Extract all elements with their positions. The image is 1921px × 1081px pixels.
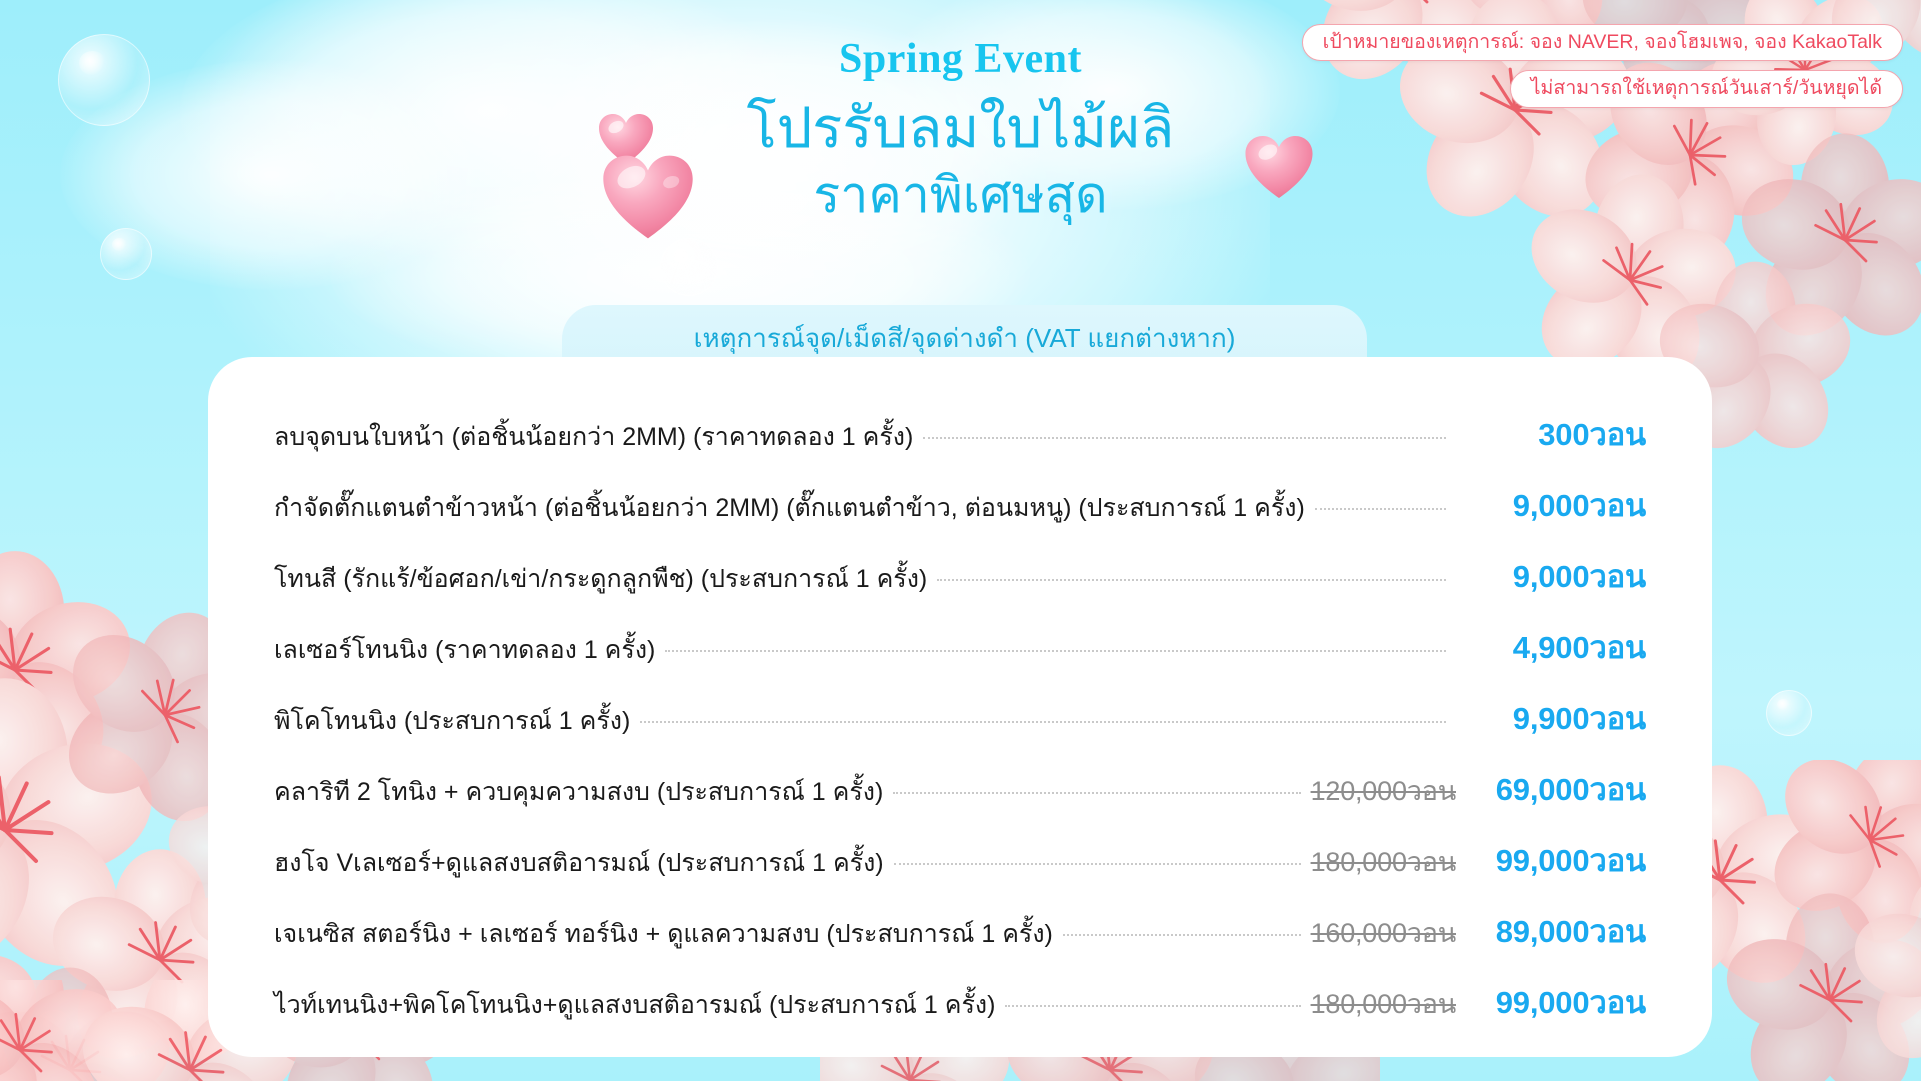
price-original: 180,000วอน [1311, 982, 1456, 1025]
price-row: โทนสี (รักแร้/ข้อศอก/เข่า/กระดูกลูกพืช) … [274, 551, 1646, 622]
price-row: เลเซอร์โทนนิง (ราคาทดลอง 1 ครั้ง)4,900วอ… [274, 622, 1646, 693]
leader-dots [1005, 1005, 1300, 1007]
headline-line-2: ราคาพิเศษสุด [0, 163, 1921, 228]
price-row: ลบจุดบนใบหน้า (ต่อชิ้นน้อยกว่า 2MM) (ราค… [274, 409, 1646, 480]
soap-bubble [660, 238, 718, 296]
badge-event-channels[interactable]: เป้าหมายของเหตุการณ์: จอง NAVER, จองโฮมเ… [1302, 24, 1903, 61]
price-discounted: 89,000วอน [1478, 906, 1646, 956]
price-row-label: พิโคโทนนิง (ประสบการณ์ 1 ครั้ง) [274, 706, 630, 736]
leader-dots [894, 863, 1301, 865]
badge-group: เป้าหมายของเหตุการณ์: จอง NAVER, จองโฮมเ… [1302, 24, 1903, 108]
price-discounted: 9,900วอน [1478, 693, 1646, 743]
price-row: ฮงโจ Vเลเซอร์+ดูแลสงบสติอารมณ์ (ประสบการ… [274, 835, 1646, 906]
price-original: 160,000วอน [1311, 911, 1456, 954]
soap-bubble [34, 1010, 74, 1050]
price-row-label: คลาริที 2 โทนิง + ควบคุมความสงบ (ประสบกา… [274, 777, 883, 807]
price-row-label: ลบจุดบนใบหน้า (ต่อชิ้นน้อยกว่า 2MM) (ราค… [274, 422, 913, 452]
price-original: 120,000วอน [1311, 769, 1456, 812]
price-row-label: ไวท์เทนนิง+พิคโคโทนนิง+ดูแลสงบสติอารมณ์ … [274, 990, 995, 1020]
price-row-label: โทนสี (รักแร้/ข้อศอก/เข่า/กระดูกลูกพืช) … [274, 564, 927, 594]
leader-dots [1315, 508, 1446, 510]
price-row: ไวท์เทนนิง+พิคโคโทนนิง+ดูแลสงบสติอารมณ์ … [274, 977, 1646, 1048]
price-row: คลาริที 2 โทนิง + ควบคุมความสงบ (ประสบกา… [274, 764, 1646, 835]
price-card: ลบจุดบนใบหน้า (ต่อชิ้นน้อยกว่า 2MM) (ราค… [208, 357, 1712, 1057]
soap-bubble [1766, 690, 1812, 736]
leader-dots [1063, 934, 1301, 936]
price-row-label: เจเนซิส สตอร์นิง + เลเซอร์ ทอร์นิง + ดูแ… [274, 919, 1053, 949]
price-discounted: 9,000วอน [1478, 480, 1646, 530]
badge-weekend-exclusion[interactable]: ไม่สามารถใช้เหตุการณ์วันเสาร์/วันหยุดได้ [1510, 70, 1903, 107]
price-row-label: กำจัดตั๊กแตนตำข้าวหน้า (ต่อชิ้นน้อยกว่า … [274, 493, 1305, 523]
banner-stage: เป้าหมายของเหตุการณ์: จอง NAVER, จองโฮมเ… [0, 0, 1921, 1081]
leader-dots [923, 437, 1446, 439]
price-row: พิโคโทนนิง (ประสบการณ์ 1 ครั้ง)9,900วอน [274, 693, 1646, 764]
leader-dots [665, 650, 1446, 652]
price-discounted: 69,000วอน [1478, 764, 1646, 814]
price-list: ลบจุดบนใบหน้า (ต่อชิ้นน้อยกว่า 2MM) (ราค… [274, 409, 1646, 1048]
price-discounted: 300วอน [1478, 409, 1646, 459]
price-row: กำจัดตั๊กแตนตำข้าวหน้า (ต่อชิ้นน้อยกว่า … [274, 480, 1646, 551]
price-discounted: 99,000วอน [1478, 835, 1646, 885]
price-row: เจเนซิส สตอร์นิง + เลเซอร์ ทอร์นิง + ดูแ… [274, 906, 1646, 977]
price-row-label: ฮงโจ Vเลเซอร์+ดูแลสงบสติอารมณ์ (ประสบการ… [274, 848, 884, 878]
price-row-label: เลเซอร์โทนนิง (ราคาทดลอง 1 ครั้ง) [274, 635, 655, 665]
price-discounted: 99,000วอน [1478, 977, 1646, 1027]
price-discounted: 4,900วอน [1478, 622, 1646, 672]
subtitle-line-1: เหตุการณ์จุด/เม็ดสี/จุดด่างดำ (VAT แยกต่… [582, 321, 1347, 356]
soap-bubble [100, 228, 152, 280]
leader-dots [640, 721, 1446, 723]
leader-dots [893, 792, 1300, 794]
leader-dots [937, 579, 1446, 581]
price-original: 180,000วอน [1311, 840, 1456, 883]
price-discounted: 9,000วอน [1478, 551, 1646, 601]
